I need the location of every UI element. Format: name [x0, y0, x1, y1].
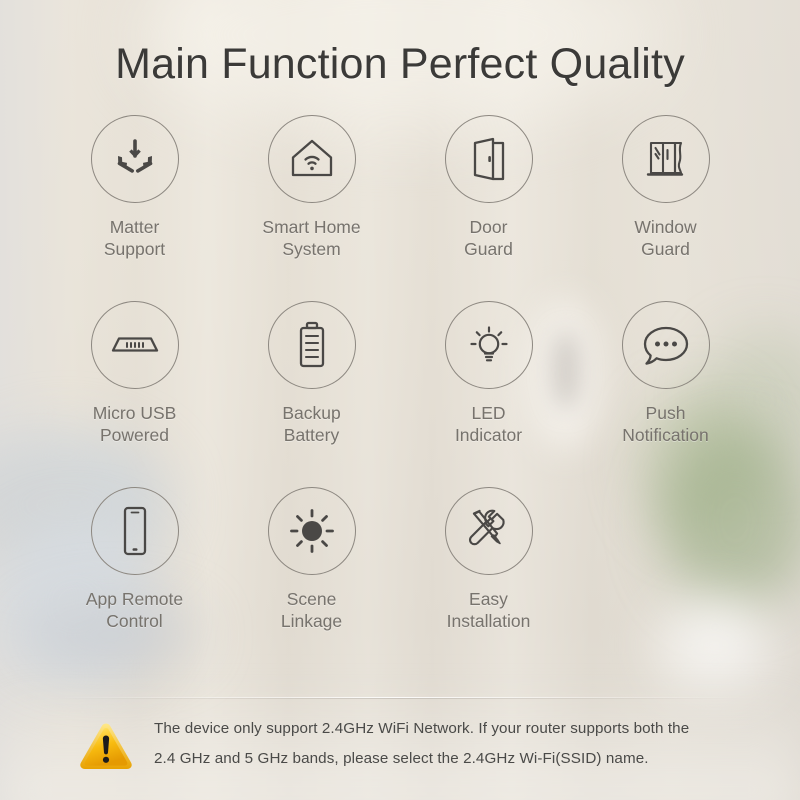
feature-row: Micro USB Powered Backup Battery: [46, 301, 754, 487]
icon-circle: [622, 301, 710, 389]
icon-circle: [445, 115, 533, 203]
icon-circle: [268, 487, 356, 575]
feature-item-micro-usb-powered: Micro USB Powered: [46, 301, 223, 487]
feature-label: Matter Support: [104, 216, 165, 261]
icon-circle: [445, 487, 533, 575]
battery-icon: [293, 319, 331, 371]
feature-item-push-notification: Push Notification: [577, 301, 754, 487]
feature-label: Scene Linkage: [281, 588, 342, 633]
feature-label: Window Guard: [634, 216, 696, 261]
micro-usb-port-icon: [107, 328, 163, 362]
feature-label: Push Notification: [622, 402, 709, 447]
feature-item-easy-installation: Easy Installation: [400, 487, 577, 673]
feature-item-window-guard: Window Guard: [577, 115, 754, 301]
feature-label: Easy Installation: [447, 588, 531, 633]
icon-circle: [445, 301, 533, 389]
feature-item-matter-support: Matter Support: [46, 115, 223, 301]
icon-circle: [268, 301, 356, 389]
feature-item-door-guard: Door Guard: [400, 115, 577, 301]
house-wifi-icon: [286, 134, 338, 184]
speech-bubble-dots-icon: [640, 321, 692, 369]
icon-circle: [91, 115, 179, 203]
feature-label: Smart Home System: [262, 216, 360, 261]
icon-circle: [91, 301, 179, 389]
wrench-screwdriver-icon: [463, 505, 515, 557]
feature-row: App Remote Control: [46, 487, 754, 673]
feature-item-smart-home-system: Smart Home System: [223, 115, 400, 301]
matter-logo-icon: [110, 134, 160, 184]
warning-text-line-2: 2.4 GHz and 5 GHz bands, please select t…: [154, 744, 689, 774]
feature-item-scene-linkage: Scene Linkage: [223, 487, 400, 673]
feature-item-led-indicator: LED Indicator: [400, 301, 577, 487]
feature-item-app-remote-control: App Remote Control: [46, 487, 223, 673]
feature-label: App Remote Control: [86, 588, 183, 633]
feature-label: Micro USB Powered: [93, 402, 177, 447]
feature-label: LED Indicator: [455, 402, 522, 447]
sun-brightness-icon: [286, 505, 338, 557]
warning-banner: The device only support 2.4GHz WiFi Netw…: [78, 714, 738, 777]
warning-text-line-1: The device only support 2.4GHz WiFi Netw…: [154, 714, 689, 744]
open-door-icon: [466, 134, 512, 184]
icon-circle: [91, 487, 179, 575]
feature-item-backup-battery: Backup Battery: [223, 301, 400, 487]
feature-label: Backup Battery: [282, 402, 340, 447]
feature-row: Matter Support Smart Home: [46, 115, 754, 301]
warning-triangle-icon: [78, 720, 134, 777]
warning-text: The device only support 2.4GHz WiFi Netw…: [154, 714, 689, 775]
feature-grid: Matter Support Smart Home: [46, 115, 754, 673]
icon-circle: [268, 115, 356, 203]
window-curtain-icon: [641, 134, 691, 184]
icon-circle: [622, 115, 710, 203]
page-title: Main Function Perfect Quality: [0, 40, 800, 89]
smartphone-icon: [118, 504, 152, 558]
section-divider-shadow: [58, 698, 742, 699]
lightbulb-icon: [464, 320, 514, 370]
product-feature-infographic: Main Function Perfect Quality: [0, 0, 800, 800]
feature-label: Door Guard: [464, 216, 513, 261]
